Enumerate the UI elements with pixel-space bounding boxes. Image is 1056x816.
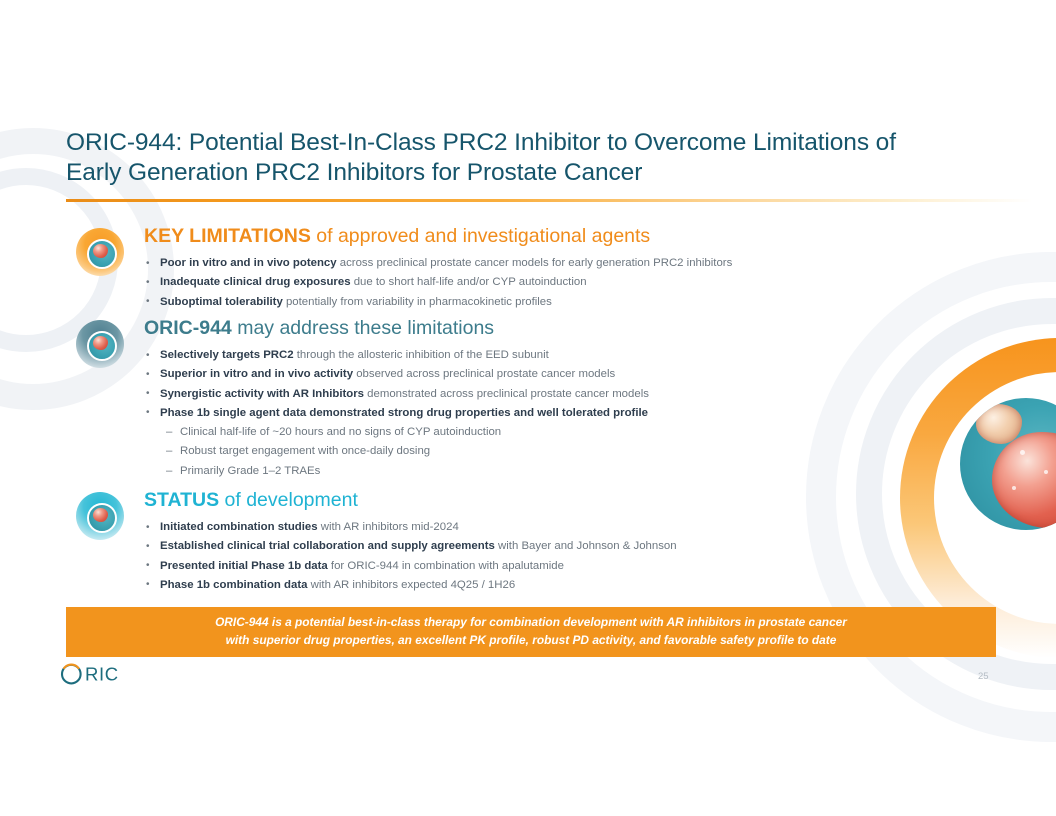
icon-inner-ring xyxy=(87,503,117,533)
bullet-strong: Phase 1b combination data xyxy=(160,579,307,591)
page-title: ORIC-944: Potential Best-In-Class PRC2 I… xyxy=(66,128,996,188)
bullet-list-key-limitations: Poor in vitro and in vivo potency across… xyxy=(144,254,1034,312)
bullet-rest: with AR inhibitors expected 4Q25 / 1H26 xyxy=(307,579,515,591)
bullet-rest: with AR inhibitors mid-2024 xyxy=(318,521,459,533)
bullet-list-oric944: Selectively targets PRC2 through the all… xyxy=(144,346,1034,481)
section-heading-status: STATUS of development xyxy=(144,488,358,512)
bullet-item: Poor in vitro and in vivo potency across… xyxy=(144,254,1034,273)
icon-cell-glyph xyxy=(93,336,108,350)
bullet-rest: observed across preclinical prostate can… xyxy=(353,368,615,380)
bullet-item: Inadequate clinical drug exposures due t… xyxy=(144,273,1034,292)
section-heading-strong: ORIC-944 xyxy=(144,317,232,339)
slide-canvas: ORIC-944: Potential Best-In-Class PRC2 I… xyxy=(0,0,1056,816)
bullet-list-status: Initiated combination studies with AR in… xyxy=(144,518,1034,595)
cell-circle-icon-orange xyxy=(76,228,124,276)
bullet-rest: with Bayer and Johnson & Johnson xyxy=(495,540,677,552)
bullet-item: Presented initial Phase 1b data for ORIC… xyxy=(144,557,1034,576)
bullet-rest: potentially from variability in pharmaco… xyxy=(283,296,552,308)
title-divider xyxy=(66,199,1032,202)
sub-bullet-item: Clinical half-life of ~20 hours and no s… xyxy=(144,423,1034,442)
section-heading-oric944: ORIC-944 may address these limitations xyxy=(144,316,494,340)
bullet-strong: Established clinical trial collaboration… xyxy=(160,540,495,552)
sub-bullet-item: Primarily Grade 1–2 TRAEs xyxy=(144,462,1034,481)
section-heading-key-limitations: KEY LIMITATIONS of approved and investig… xyxy=(144,224,650,248)
oric-logo: RIC xyxy=(60,662,138,686)
bullet-strong: Suboptimal tolerability xyxy=(160,296,283,308)
icon-inner-ring xyxy=(87,239,117,269)
section-heading-rest: of approved and investigational agents xyxy=(311,225,650,247)
section-heading-strong: STATUS xyxy=(144,489,219,511)
icon-inner-ring xyxy=(87,331,117,361)
bullet-strong: Initiated combination studies xyxy=(160,521,318,533)
bullet-item: Initiated combination studies with AR in… xyxy=(144,518,1034,537)
page-number: 25 xyxy=(978,671,989,682)
bullet-rest: demonstrated across preclinical prostate… xyxy=(364,388,649,400)
bullet-item: Selectively targets PRC2 through the all… xyxy=(144,346,1034,365)
callout-line-2: with superior drug properties, an excell… xyxy=(226,632,837,650)
cell-circle-icon-cyan xyxy=(76,492,124,540)
bullet-item: Phase 1b single agent data demonstrated … xyxy=(144,404,1034,423)
cell-speck xyxy=(1044,470,1048,474)
bullet-item: Phase 1b combination data with AR inhibi… xyxy=(144,576,1034,595)
bullet-strong: Synergistic activity with AR Inhibitors xyxy=(160,388,364,400)
summary-callout-banner: ORIC-944 is a potential best-in-class th… xyxy=(66,607,996,657)
section-heading-strong: KEY LIMITATIONS xyxy=(144,225,311,247)
bullet-item: Established clinical trial collaboration… xyxy=(144,537,1034,556)
bullet-rest: for ORIC-944 in combination with apaluta… xyxy=(328,560,564,572)
bullet-item: Synergistic activity with AR Inhibitors … xyxy=(144,385,1034,404)
icon-cell-glyph xyxy=(93,244,108,258)
icon-cell-glyph xyxy=(93,508,108,522)
bullet-strong: Selectively targets PRC2 xyxy=(160,349,294,361)
bullet-item: Superior in vitro and in vivo activity o… xyxy=(144,365,1034,384)
title-block: ORIC-944: Potential Best-In-Class PRC2 I… xyxy=(66,128,996,188)
cell-circle-icon-slate xyxy=(76,320,124,368)
bullet-rest: across preclinical prostate cancer model… xyxy=(337,257,733,269)
section-heading-rest: of development xyxy=(219,489,358,511)
bullet-strong: Poor in vitro and in vivo potency xyxy=(160,257,337,269)
bullet-strong: Inadequate clinical drug exposures xyxy=(160,276,351,288)
bullet-strong: Phase 1b single agent data demonstrated … xyxy=(160,407,648,419)
cell-speck xyxy=(1012,486,1016,490)
callout-line-1: ORIC-944 is a potential best-in-class th… xyxy=(215,614,847,632)
bullet-strong: Presented initial Phase 1b data xyxy=(160,560,328,572)
bullet-rest: through the allosteric inhibition of the… xyxy=(294,349,549,361)
sub-bullet-item: Robust target engagement with once-daily… xyxy=(144,442,1034,461)
section-heading-rest: may address these limitations xyxy=(232,317,494,339)
bullet-rest: due to short half-life and/or CYP autoin… xyxy=(351,276,587,288)
bullet-item: Suboptimal tolerability potentially from… xyxy=(144,293,1034,312)
svg-text:RIC: RIC xyxy=(85,664,119,685)
bullet-strong: Superior in vitro and in vivo activity xyxy=(160,368,353,380)
